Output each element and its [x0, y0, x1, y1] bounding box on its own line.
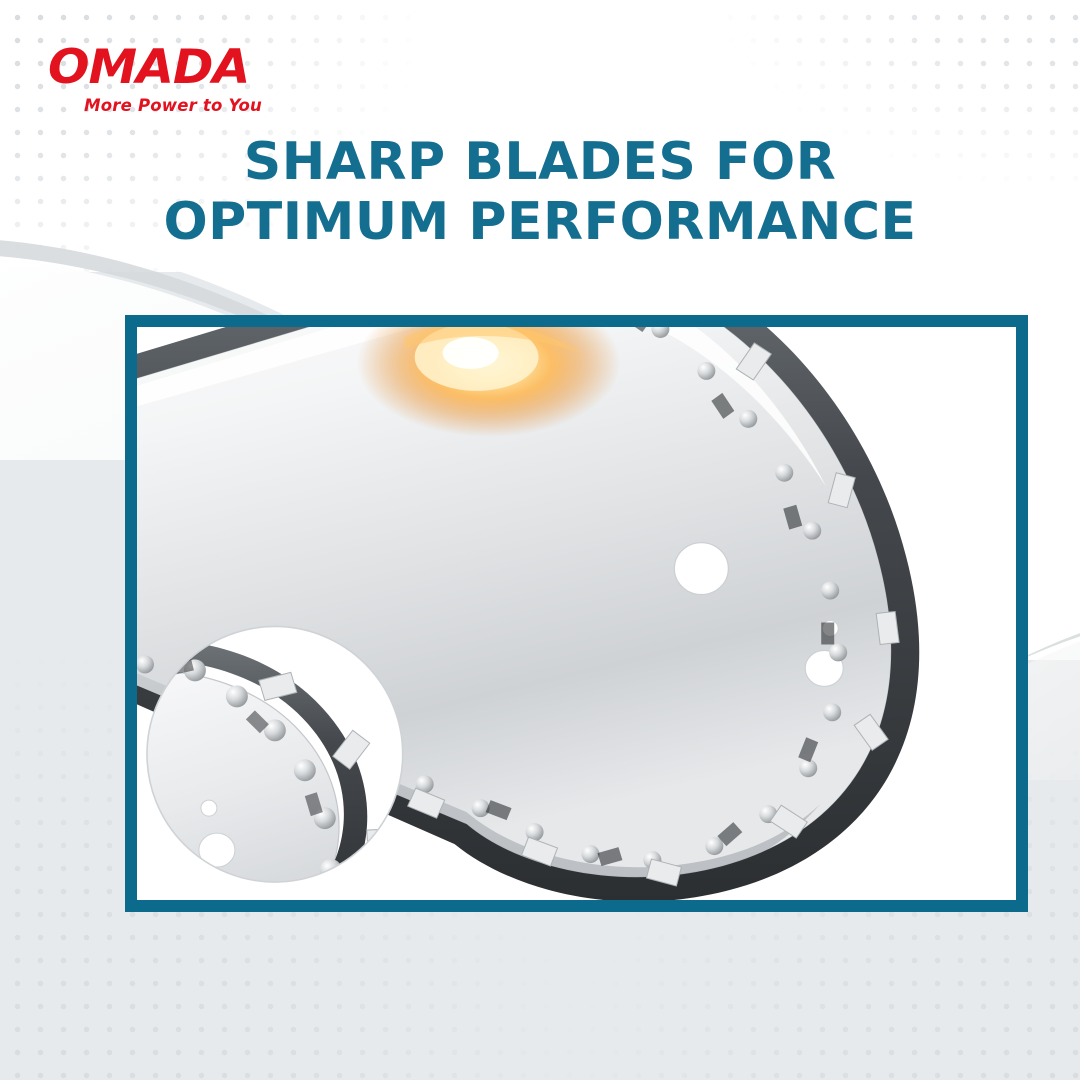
brand-logo-tagline: More Power to You: [48, 98, 262, 115]
poster-canvas: OMADA More Power to You SHARP BLADES FOR…: [0, 0, 1080, 1080]
brand-logo-wordmark: OMADA: [48, 44, 339, 91]
headline-line-1: SHARP BLADES FOR: [0, 132, 1080, 192]
product-image-frame: [125, 315, 1028, 912]
headline: SHARP BLADES FOR OPTIMUM PERFORMANCE: [0, 132, 1080, 252]
brand-logo: OMADA More Power to You: [48, 44, 328, 115]
headline-line-2: OPTIMUM PERFORMANCE: [0, 192, 1080, 252]
chainsaw-illustration: [137, 327, 1016, 900]
product-image: [137, 327, 1016, 900]
